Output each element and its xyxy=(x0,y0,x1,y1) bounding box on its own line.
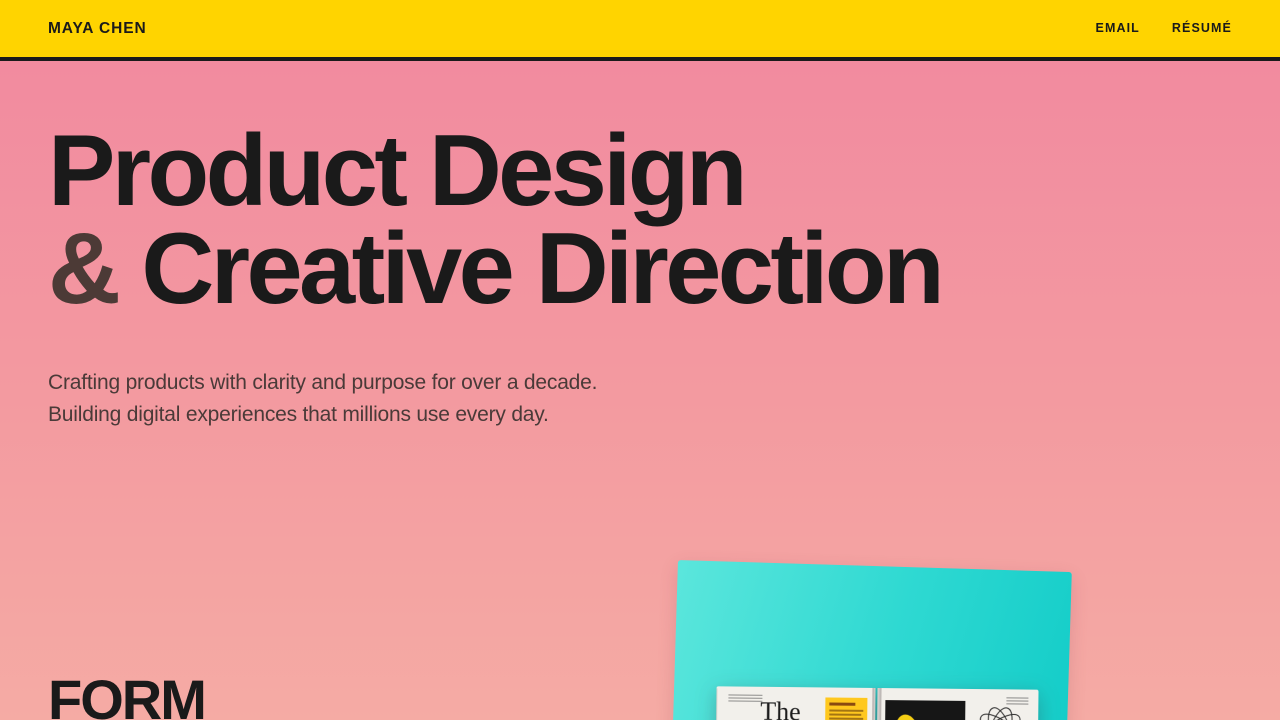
ampersand-glyph: & xyxy=(48,213,117,325)
nav-link-email[interactable]: EMAIL xyxy=(1096,22,1140,35)
page-edge xyxy=(715,688,717,720)
hero-subtitle: Crafting products with clarity and purpo… xyxy=(48,367,1232,431)
site-header: MAYA CHEN EMAIL RÉSUMÉ xyxy=(0,0,1280,61)
hero-subtitle-line-two: Building digital experiences that millio… xyxy=(48,399,1232,431)
brand-wordmark[interactable]: MAYA CHEN xyxy=(48,21,147,37)
hero-subtitle-line-one: Crafting products with clarity and purpo… xyxy=(48,367,1232,399)
headline-line-two-text: Creative Direction xyxy=(141,213,941,325)
magazine-showcase[interactable]: The ZIN xyxy=(678,560,1078,720)
hero-section: Product Design & Creative Direction Craf… xyxy=(0,61,1280,431)
sidebar-text-line xyxy=(829,713,861,715)
sidebar-heading-bar xyxy=(829,702,855,705)
headline-line-one: Product Design xyxy=(48,123,1232,221)
magazine-spine xyxy=(871,688,881,720)
open-magazine-image: The ZIN xyxy=(715,686,1038,720)
kicker-text-lines xyxy=(728,694,762,702)
pear-shape-icon xyxy=(891,712,923,720)
magazine-left-page: The ZIN xyxy=(715,686,875,720)
atom-diagram-icon xyxy=(973,703,1028,720)
section-heading-form: FORM xyxy=(48,672,205,720)
headline-line-two: & Creative Direction xyxy=(48,221,1232,319)
nav-link-resume[interactable]: RÉSUMÉ xyxy=(1172,22,1232,35)
yellow-sidebar-column xyxy=(825,697,868,720)
black-art-panel xyxy=(885,700,966,720)
sidebar-text-line xyxy=(829,717,863,719)
sidebar-text-line xyxy=(829,709,863,711)
primary-nav: EMAIL RÉSUMÉ xyxy=(1096,22,1232,35)
magazine-right-page xyxy=(876,688,1038,720)
page-title: Product Design & Creative Direction xyxy=(48,123,1232,319)
